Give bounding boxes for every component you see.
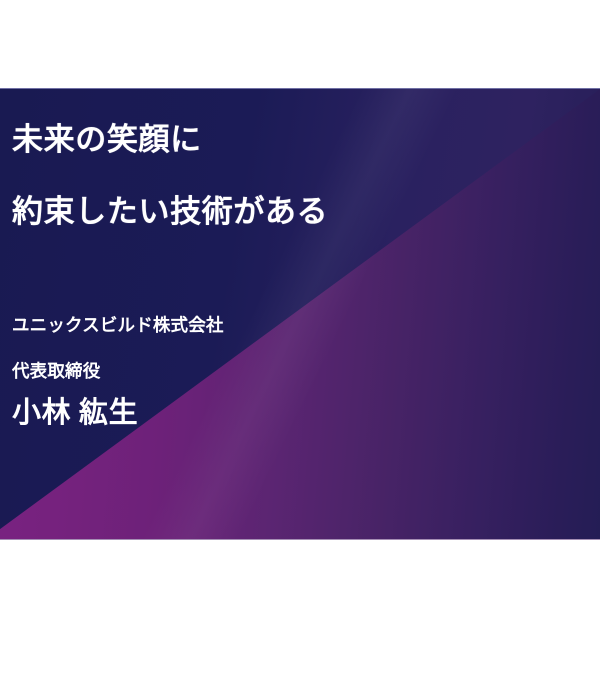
person-role: 代表取締役: [12, 363, 100, 381]
banner-content: 未来の笑顔に 約束したい技術がある ユニックスビルド株式会社 代表取締役 小林 …: [0, 89, 600, 540]
headline-line-1: 未来の笑顔に: [12, 124, 202, 155]
page-root: 未来の笑顔に 約束したい技術がある ユニックスビルド株式会社 代表取締役 小林 …: [0, 0, 600, 693]
hero-banner: 未来の笑顔に 約束したい技術がある ユニックスビルド株式会社 代表取締役 小林 …: [0, 88, 600, 540]
headline-line-2: 約束したい技術がある: [12, 196, 328, 227]
organization-name: ユニックスビルド株式会社: [12, 317, 224, 335]
person-name: 小林 紘生: [12, 399, 138, 428]
